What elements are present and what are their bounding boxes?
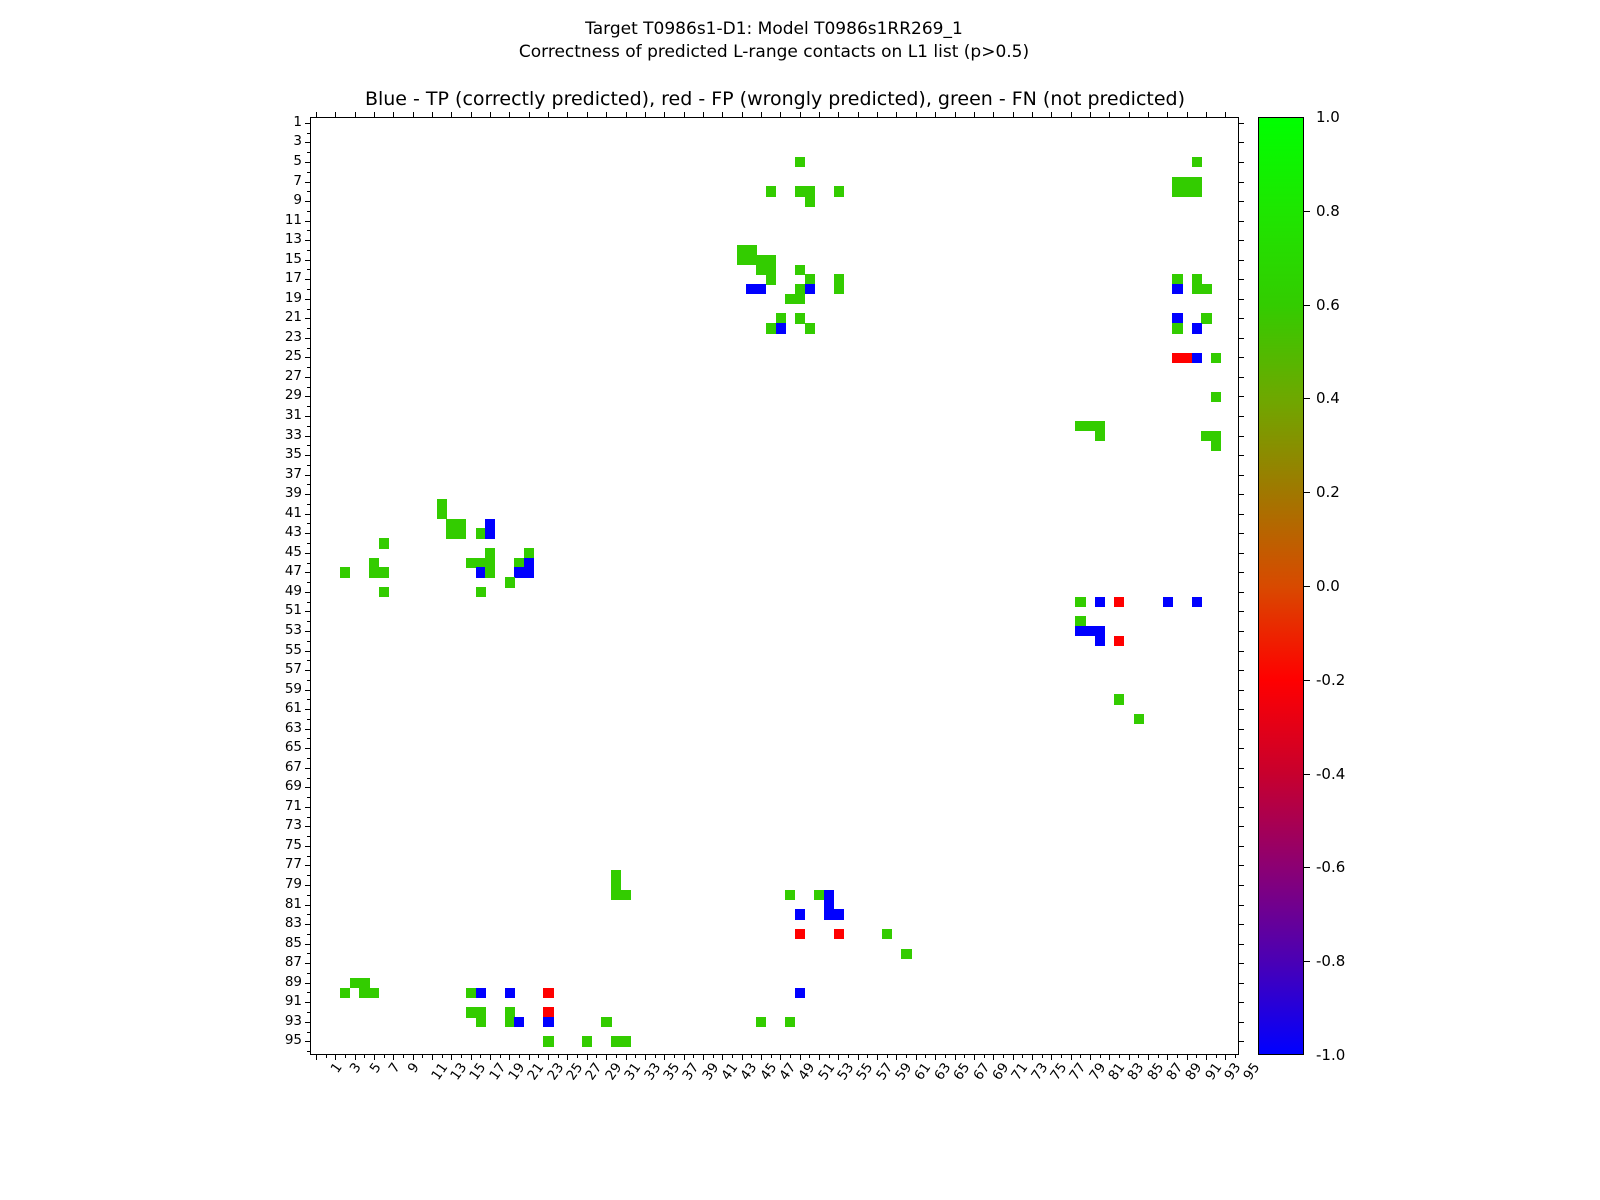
contact-cell [485, 528, 495, 538]
x-axis-tick-top [1090, 112, 1091, 118]
x-axis-tick-label: 95 [1241, 1060, 1264, 1083]
y-axis-minor-tick [307, 465, 311, 466]
y-axis-tick [305, 592, 311, 593]
x-axis-tick-label: 89 [1183, 1060, 1206, 1083]
x-axis-minor-tick [500, 1054, 501, 1058]
contact-cell [340, 567, 350, 577]
x-axis-minor-tick [326, 1054, 327, 1058]
y-axis-minor-tick [307, 230, 311, 231]
y-axis-tick-right [1238, 924, 1244, 925]
y-axis-tick-label: 77 [285, 856, 302, 872]
contact-cell [766, 186, 776, 196]
y-axis-tick [305, 201, 311, 202]
y-axis-tick-label: 11 [285, 212, 302, 228]
y-axis-tick [305, 572, 311, 573]
contact-cell [476, 1017, 486, 1027]
contact-cells-layer [311, 118, 1238, 1054]
contact-cell [543, 1017, 553, 1027]
y-axis-tick-label: 75 [285, 837, 302, 853]
y-axis-tick-right [1238, 318, 1244, 319]
figure-title: Target T0986s1-D1: Model T0986s1RR269_1 … [0, 18, 1548, 64]
contact-cell [776, 323, 786, 333]
y-axis-tick-right [1238, 768, 1244, 769]
y-axis-tick [305, 631, 311, 632]
y-axis-tick-label: 95 [285, 1032, 302, 1048]
title-line-1: Target T0986s1-D1: Model T0986s1RR269_1 [0, 18, 1548, 41]
y-axis-tick [305, 377, 311, 378]
contact-cell [476, 988, 486, 998]
contact-cell [505, 988, 515, 998]
y-axis-tick-right [1238, 905, 1244, 906]
contact-cell [795, 988, 805, 998]
x-axis-tick-label: 49 [796, 1060, 819, 1083]
colorbar-tick [1304, 586, 1310, 587]
y-axis-tick-right [1238, 865, 1244, 866]
y-axis-tick [305, 182, 311, 183]
y-axis-tick-label: 65 [285, 739, 302, 755]
colorbar-tick-label: -0.4 [1316, 765, 1345, 783]
y-axis-tick-label: 69 [285, 778, 302, 794]
x-axis-tick-label: 1 [327, 1060, 345, 1076]
x-axis-tick-label: 5 [366, 1060, 384, 1076]
y-axis-tick [305, 768, 311, 769]
x-axis-tick-top [529, 112, 530, 118]
y-axis-tick-right [1238, 396, 1244, 397]
contact-cell [1095, 431, 1105, 441]
y-axis-tick-label: 19 [285, 290, 302, 306]
y-axis-tick-label: 91 [285, 993, 302, 1009]
y-axis-tick-right [1238, 357, 1244, 358]
contact-cell [785, 1017, 795, 1027]
y-axis-tick-right [1238, 572, 1244, 573]
x-axis-tick-label: 31 [621, 1060, 644, 1083]
x-axis-tick-top [858, 112, 859, 118]
y-axis-tick-right [1238, 963, 1244, 964]
colorbar-tick-label: -1.0 [1316, 1046, 1345, 1064]
y-axis-labels: 1357911131517192123252729313335373941434… [250, 117, 302, 1055]
contact-cell [601, 1017, 611, 1027]
y-axis-tick [305, 611, 311, 612]
y-axis-tick-right [1238, 279, 1244, 280]
y-axis-minor-tick [307, 1012, 311, 1013]
x-axis-tick-top [761, 112, 762, 118]
y-axis-tick-right [1238, 553, 1244, 554]
x-axis-minor-tick [422, 1054, 423, 1058]
y-axis-minor-tick [307, 621, 311, 622]
y-axis-tick [305, 162, 311, 163]
y-axis-minor-tick [307, 817, 311, 818]
contact-cell [524, 567, 534, 577]
x-axis-tick-top [432, 112, 433, 118]
y-axis-tick-right [1238, 182, 1244, 183]
y-axis-tick-right [1238, 748, 1244, 749]
contact-cell [1192, 157, 1202, 167]
x-axis-minor-tick [1119, 1054, 1120, 1058]
y-axis-tick-right [1238, 338, 1244, 339]
y-axis-tick-right [1238, 944, 1244, 945]
y-axis-tick [305, 963, 311, 964]
x-axis-tick-top [1148, 112, 1149, 118]
contact-cell [805, 284, 815, 294]
contact-cell [621, 890, 631, 900]
y-axis-tick [305, 416, 311, 417]
y-axis-tick [305, 748, 311, 749]
y-axis-minor-tick [307, 504, 311, 505]
colorbar-tick-label: 0.4 [1316, 389, 1340, 407]
x-axis-tick-top [1187, 112, 1188, 118]
y-axis-minor-tick [307, 973, 311, 974]
x-axis-tick-top [1013, 112, 1014, 118]
y-axis-tick-label: 51 [285, 602, 302, 618]
y-axis-minor-tick [307, 719, 311, 720]
contact-cell [756, 284, 766, 294]
y-axis-tick [305, 533, 311, 534]
x-axis-minor-tick [1100, 1054, 1101, 1058]
contact-cell [834, 909, 844, 919]
y-axis-tick-right [1238, 533, 1244, 534]
contact-cell [379, 567, 389, 577]
y-axis-tick-label: 33 [285, 427, 302, 443]
y-axis-tick-label: 71 [285, 798, 302, 814]
x-axis-tick-top [916, 112, 917, 118]
y-axis-tick [305, 357, 311, 358]
x-axis-tick-top [645, 112, 646, 118]
y-axis-tick-label: 41 [285, 505, 302, 521]
x-axis-tick-label: 33 [641, 1060, 664, 1083]
y-axis-tick [305, 240, 311, 241]
contact-cell [1211, 440, 1221, 450]
y-axis-tick-right [1238, 709, 1244, 710]
y-axis-minor-tick [307, 856, 311, 857]
x-axis-tick-label: 15 [467, 1060, 490, 1083]
x-axis-minor-tick [345, 1054, 346, 1058]
y-axis-minor-tick [307, 426, 311, 427]
y-axis-tick [305, 123, 311, 124]
contact-cell [505, 577, 515, 587]
y-axis-tick [305, 983, 311, 984]
y-axis-tick-label: 67 [285, 759, 302, 775]
y-axis-minor-tick [307, 914, 311, 915]
y-axis-tick-label: 73 [285, 817, 302, 833]
x-axis-tick-top [548, 112, 549, 118]
contact-cell [1192, 323, 1202, 333]
y-axis-tick [305, 924, 311, 925]
x-axis-minor-tick [655, 1054, 656, 1058]
x-axis-minor-tick [1177, 1054, 1178, 1058]
x-axis-tick-label: 9 [405, 1060, 423, 1076]
y-axis-tick-label: 9 [293, 192, 302, 208]
y-axis-tick [305, 436, 311, 437]
y-axis-tick-label: 59 [285, 681, 302, 697]
y-axis-tick [305, 553, 311, 554]
contact-cell [1192, 353, 1202, 363]
contact-cell [1201, 313, 1211, 323]
contact-cell [1163, 597, 1173, 607]
contact-cell [795, 157, 805, 167]
y-axis-tick-label: 79 [285, 876, 302, 892]
y-axis-minor-tick [307, 992, 311, 993]
y-axis-tick [305, 1022, 311, 1023]
y-axis-tick-label: 85 [285, 935, 302, 951]
x-axis-minor-tick [674, 1054, 675, 1058]
x-axis-tick-top [722, 112, 723, 118]
contact-cell [1114, 597, 1124, 607]
x-axis-minor-tick [364, 1054, 365, 1058]
y-axis-tick-right [1238, 494, 1244, 495]
y-axis-tick [305, 787, 311, 788]
y-axis-tick-right [1238, 260, 1244, 261]
colorbar-tick-label: -0.2 [1316, 671, 1345, 689]
y-axis-tick-right [1238, 201, 1244, 202]
x-axis-minor-tick [1080, 1054, 1081, 1058]
contact-cell [543, 988, 553, 998]
contact-cell [834, 929, 844, 939]
x-axis-tick-label: 61 [912, 1060, 935, 1083]
colorbar-tick [1304, 961, 1310, 962]
y-axis-tick [305, 865, 311, 866]
x-axis-tick-top [896, 112, 897, 118]
x-axis-minor-tick [616, 1054, 617, 1058]
x-axis-tick-top [742, 112, 743, 118]
y-axis-tick [305, 944, 311, 945]
x-axis-tick-top [1071, 112, 1072, 118]
x-axis-tick-top [1051, 112, 1052, 118]
colorbar-tick-label: 0.6 [1316, 296, 1340, 314]
y-axis-tick-label: 21 [285, 309, 302, 325]
contact-cell [795, 909, 805, 919]
contact-cell [1095, 597, 1105, 607]
x-axis-tick-label: 77 [1067, 1060, 1090, 1083]
colorbar-tick-label: 0.0 [1316, 577, 1340, 595]
y-axis-minor-tick [307, 895, 311, 896]
y-axis-minor-tick [307, 133, 311, 134]
y-axis-tick-right [1238, 729, 1244, 730]
x-axis-minor-tick [771, 1054, 772, 1058]
x-axis-tick-top [993, 112, 994, 118]
y-axis-tick-right [1238, 221, 1244, 222]
x-axis-tick-top [800, 112, 801, 118]
colorbar-tick [1304, 305, 1310, 306]
colorbar-tick [1304, 774, 1310, 775]
x-axis-tick-top [877, 112, 878, 118]
y-axis-tick-label: 81 [285, 896, 302, 912]
y-axis-tick-label: 31 [285, 407, 302, 423]
y-axis-tick-right [1238, 299, 1244, 300]
y-axis-minor-tick [307, 152, 311, 153]
y-axis-tick [305, 455, 311, 456]
y-axis-tick-right [1238, 631, 1244, 632]
contact-cell [456, 528, 466, 538]
x-axis-tick-top [1032, 112, 1033, 118]
x-axis-minor-tick [461, 1054, 462, 1058]
x-axis-tick-top [451, 112, 452, 118]
y-axis-tick-right [1238, 1002, 1244, 1003]
x-axis-tick-top [838, 112, 839, 118]
x-axis-minor-tick [480, 1054, 481, 1058]
x-axis-minor-tick [1042, 1054, 1043, 1058]
y-axis-tick [305, 494, 311, 495]
x-axis-minor-tick [558, 1054, 559, 1058]
contact-map-plot[interactable] [310, 117, 1239, 1055]
y-axis-minor-tick [307, 875, 311, 876]
x-axis-minor-tick [887, 1054, 888, 1058]
contact-cell [340, 988, 350, 998]
contact-cell [785, 890, 795, 900]
y-axis-tick [305, 338, 311, 339]
y-axis-tick-right [1238, 807, 1244, 808]
contact-cell [621, 1036, 631, 1046]
x-axis-minor-tick [596, 1054, 597, 1058]
y-axis-tick-right [1238, 846, 1244, 847]
x-axis-minor-tick [635, 1054, 636, 1058]
y-axis-minor-tick [307, 758, 311, 759]
contact-cell [1211, 392, 1221, 402]
y-axis-tick-right [1238, 436, 1244, 437]
y-axis-minor-tick [307, 699, 311, 700]
x-axis-tick-top [684, 112, 685, 118]
y-axis-minor-tick [307, 543, 311, 544]
x-axis-minor-tick [538, 1054, 539, 1058]
y-axis-minor-tick [307, 953, 311, 954]
y-axis-minor-tick [307, 269, 311, 270]
y-axis-tick-label: 23 [285, 329, 302, 345]
y-axis-tick-label: 7 [293, 173, 302, 189]
colorbar-tick-label: -0.6 [1316, 858, 1345, 876]
y-axis-minor-tick [307, 738, 311, 739]
x-axis-tick-label: 71 [1009, 1060, 1032, 1083]
y-axis-tick-label: 1 [293, 114, 302, 130]
x-axis-minor-tick [984, 1054, 985, 1058]
y-axis-tick [305, 260, 311, 261]
y-axis-tick [305, 221, 311, 222]
x-axis-minor-tick [1196, 1054, 1197, 1058]
contact-cell [834, 284, 844, 294]
x-axis-minor-tick [403, 1054, 404, 1058]
y-axis-tick-label: 35 [285, 446, 302, 462]
y-axis-tick [305, 514, 311, 515]
y-axis-tick-label: 25 [285, 348, 302, 364]
x-axis-minor-tick [384, 1054, 385, 1058]
x-axis-tick-top [1225, 112, 1226, 118]
contact-cell [379, 587, 389, 597]
y-axis-minor-tick [307, 563, 311, 564]
y-axis-tick-right [1238, 826, 1244, 827]
x-axis-minor-tick [1158, 1054, 1159, 1058]
x-axis-tick-label: 65 [951, 1060, 974, 1083]
contact-cell [582, 1036, 592, 1046]
y-axis-tick-right [1238, 611, 1244, 612]
x-axis-minor-tick [906, 1054, 907, 1058]
x-axis-minor-tick [751, 1054, 752, 1058]
y-axis-tick-label: 57 [285, 661, 302, 677]
y-axis-tick-label: 53 [285, 622, 302, 638]
y-axis-tick [305, 709, 311, 710]
y-axis-tick-right [1238, 123, 1244, 124]
x-axis-minor-tick [713, 1054, 714, 1058]
colorbar: 1.00.80.60.40.20.0-0.2-0.4-0.6-0.8-1.0 [1258, 117, 1304, 1055]
y-axis-tick-right [1238, 983, 1244, 984]
y-axis-tick [305, 1041, 311, 1042]
y-axis-tick [305, 690, 311, 691]
x-axis-tick-top [819, 112, 820, 118]
x-axis-tick-top [1167, 112, 1168, 118]
x-axis-tick-top [509, 112, 510, 118]
x-axis-minor-tick [442, 1054, 443, 1058]
y-axis-tick-label: 87 [285, 954, 302, 970]
x-axis-tick-label: 43 [738, 1060, 761, 1083]
x-axis-minor-tick [945, 1054, 946, 1058]
y-axis-tick-label: 37 [285, 466, 302, 482]
y-axis-minor-tick [307, 250, 311, 251]
x-axis-tick-top [1206, 112, 1207, 118]
y-axis-tick-label: 17 [285, 270, 302, 286]
x-axis-tick-top [316, 112, 317, 118]
contact-cell [834, 186, 844, 196]
y-axis-tick-label: 27 [285, 368, 302, 384]
x-axis-minor-tick [519, 1054, 520, 1058]
x-axis-tick-top [626, 112, 627, 118]
y-axis-minor-tick [307, 797, 311, 798]
y-axis-tick-right [1238, 377, 1244, 378]
colorbar-gradient [1258, 117, 1304, 1055]
y-axis-tick-right [1238, 416, 1244, 417]
x-axis-tick-label: 21 [525, 1060, 548, 1083]
y-axis-tick-right [1238, 514, 1244, 515]
x-axis-tick-top [955, 112, 956, 118]
y-axis-tick-right [1238, 240, 1244, 241]
contact-cell [1192, 597, 1202, 607]
x-axis-minor-tick [925, 1054, 926, 1058]
contact-cell [369, 988, 379, 998]
y-axis-tick [305, 826, 311, 827]
y-axis-tick-label: 55 [285, 642, 302, 658]
y-axis-tick-label: 5 [293, 153, 302, 169]
contact-cell [795, 929, 805, 939]
y-axis-tick [305, 318, 311, 319]
colorbar-tick [1304, 211, 1310, 212]
y-axis-tick-right [1238, 1041, 1244, 1042]
contact-cell [1172, 323, 1182, 333]
x-axis-minor-tick [829, 1054, 830, 1058]
y-axis-tick-right [1238, 670, 1244, 671]
y-axis-minor-tick [307, 445, 311, 446]
title-line-2: Correctness of predicted L-range contact… [0, 41, 1548, 64]
y-axis-minor-tick [307, 602, 311, 603]
contact-cell [1114, 636, 1124, 646]
contact-cell [1134, 714, 1144, 724]
x-axis-minor-tick [732, 1054, 733, 1058]
y-axis-minor-tick [307, 778, 311, 779]
colorbar-tick-label: 0.2 [1316, 483, 1340, 501]
x-axis-tick-top [374, 112, 375, 118]
y-axis-tick-label: 13 [285, 231, 302, 247]
x-axis-tick-top [703, 112, 704, 118]
x-axis-minor-tick [577, 1054, 578, 1058]
y-axis-minor-tick [307, 680, 311, 681]
y-axis-tick-label: 61 [285, 700, 302, 716]
x-axis-minor-tick [1022, 1054, 1023, 1058]
color-legend-caption: Blue - TP (correctly predicted), red - F… [310, 88, 1240, 110]
contact-cell [514, 1017, 524, 1027]
x-axis-tick-label: 55 [854, 1060, 877, 1083]
y-axis-tick-label: 89 [285, 974, 302, 990]
y-axis-minor-tick [307, 934, 311, 935]
contact-cell [476, 587, 486, 597]
x-axis-tick-top [1129, 112, 1130, 118]
y-axis-tick-label: 3 [293, 133, 302, 149]
contact-cell [882, 929, 892, 939]
y-axis-minor-tick [307, 172, 311, 173]
